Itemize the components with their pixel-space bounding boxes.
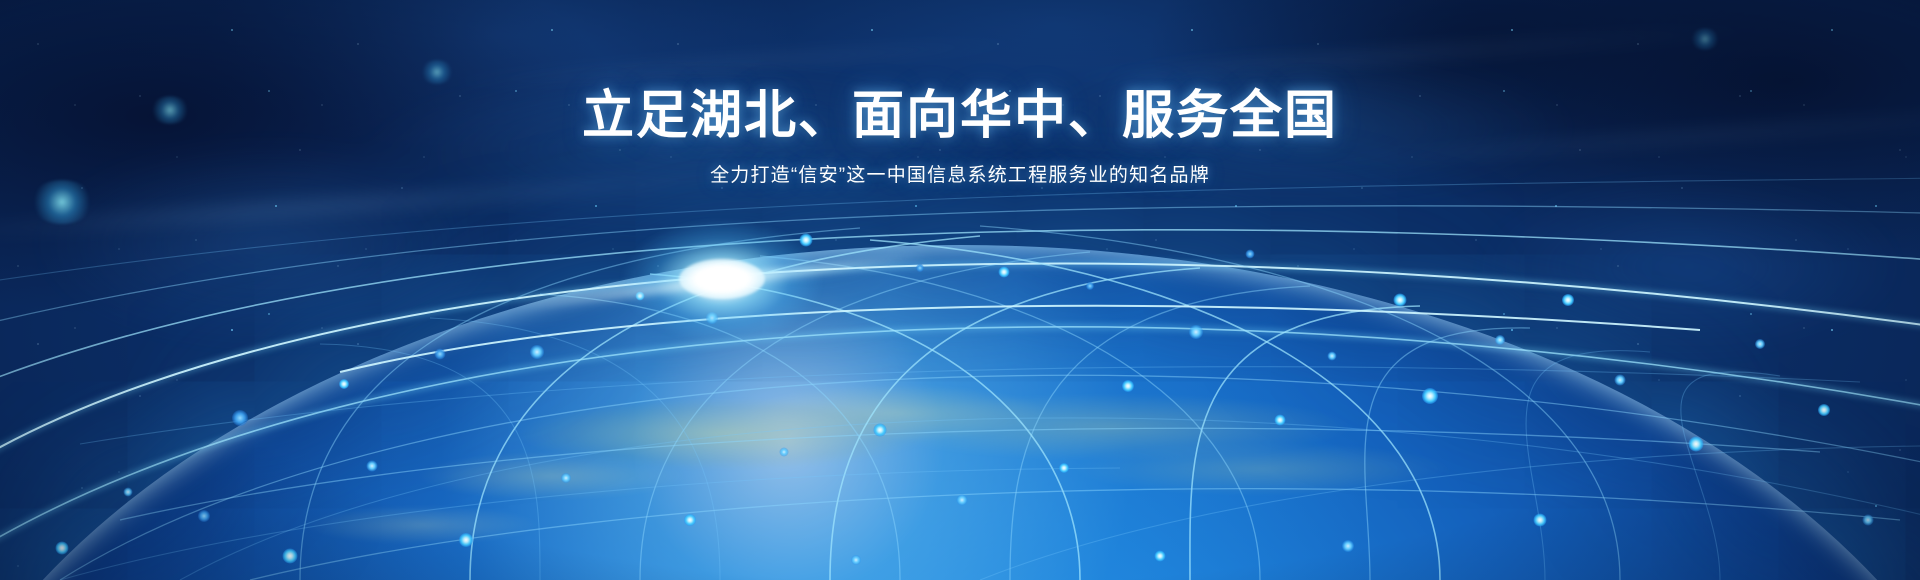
network-node [684,514,696,526]
network-node [561,473,571,483]
network-node [459,533,473,547]
network-node [957,495,968,506]
network-node [1086,282,1094,290]
banner-copy: 立足湖北、面向华中、服务全国 全力打造“信安”这一中国信息系统工程服务业的知名品… [0,0,1920,190]
network-node [1155,551,1166,562]
network-node [1615,375,1626,386]
network-node [283,549,298,564]
banner-subheadline: 全力打造“信安”这一中国信息系统工程服务业的知名品牌 [0,147,1920,190]
network-node [530,345,544,359]
network-node [1863,515,1874,526]
network-node [1394,294,1407,307]
network-node [1689,437,1704,452]
network-node [124,488,133,497]
network-node [56,542,69,555]
network-node [999,267,1010,278]
network-node [1818,404,1830,416]
hero-banner: 立足湖北、面向华中、服务全国 全力打造“信安”这一中国信息系统工程服务业的知名品… [0,0,1920,580]
network-node [780,448,789,457]
network-node [1122,380,1134,392]
network-node [232,410,248,426]
network-node [1328,352,1337,361]
network-node [1422,388,1438,404]
banner-headline: 立足湖北、面向华中、服务全国 [0,0,1920,147]
network-node [851,555,861,565]
network-node [1342,540,1354,552]
network-node [1059,463,1069,473]
network-node [874,424,887,437]
network-node [1562,294,1574,306]
network-node [367,461,378,472]
network-node [1246,250,1255,259]
network-node [339,379,349,389]
network-node [1189,325,1203,339]
network-node [916,264,924,272]
network-node [1495,335,1505,345]
network-node [198,510,210,522]
network-node [1534,514,1547,527]
network-node [1275,415,1286,426]
network-node [1755,339,1765,349]
flare-core [679,259,765,299]
network-node [435,349,446,360]
